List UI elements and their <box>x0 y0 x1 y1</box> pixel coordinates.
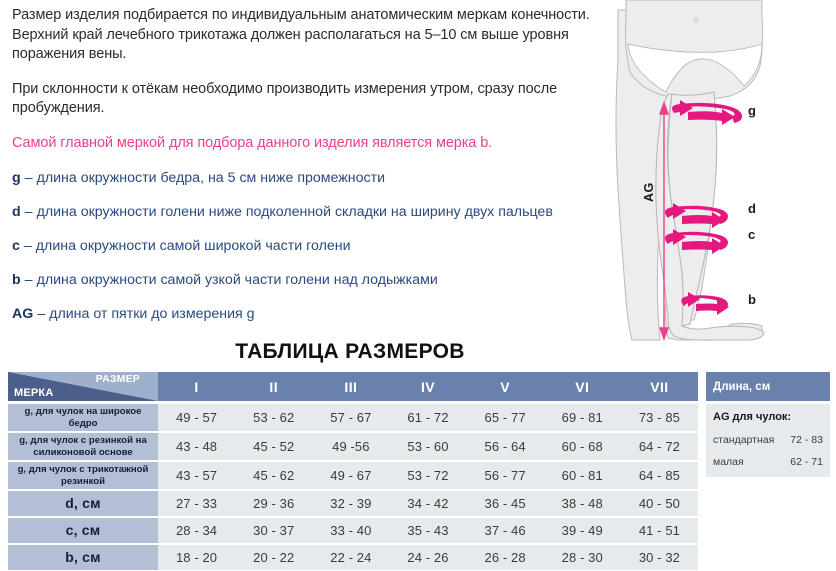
side-panel-body: AG для чулок: стандартная 72 - 83 малая … <box>706 404 830 477</box>
side-row-name: малая <box>713 456 744 468</box>
side-row-value: 72 - 83 <box>790 434 823 446</box>
table-cell: 73 - 85 <box>621 410 698 425</box>
table-cell: 30 - 37 <box>235 523 312 538</box>
table-cell: 43 - 57 <box>158 468 235 483</box>
column-header-7: VII <box>621 379 698 395</box>
diagram-label-ag: AG <box>642 182 656 202</box>
intro-highlight-note: Самой главной меркой для подбора данного… <box>12 134 612 154</box>
column-header-3: III <box>312 379 389 395</box>
side-row-value: 62 - 71 <box>790 456 823 468</box>
table-cell: 32 - 39 <box>312 496 389 511</box>
table-cell: 33 - 40 <box>312 523 389 538</box>
body-silhouette-svg <box>612 0 836 345</box>
table-header-row: РАЗМЕР МЕРКА I II III IV V VI VII <box>8 372 698 401</box>
table-cell: 45 - 52 <box>235 439 312 454</box>
legend-item-ag: AG – длина от пятки до измерения g <box>12 305 612 323</box>
column-header-4: IV <box>389 379 466 395</box>
legend-text-ag: длина от пятки до измерения g <box>49 305 254 323</box>
table-cell: 53 - 62 <box>235 410 312 425</box>
table-cell: 49 - 57 <box>158 410 235 425</box>
table-cell: 56 - 77 <box>467 468 544 483</box>
table-cell: 40 - 50 <box>621 496 698 511</box>
legend-key-c: c <box>12 237 20 255</box>
legend-dash: – <box>24 237 32 255</box>
table-cell: 45 - 62 <box>235 468 312 483</box>
legend-key-g: g <box>12 169 21 187</box>
instructions-text-column: Размер изделия подбирается по индивидуал… <box>12 6 612 339</box>
side-panel-row-standard: стандартная 72 - 83 <box>713 434 823 446</box>
diagram-label-d: d <box>748 201 756 216</box>
legend-dash: – <box>25 271 33 289</box>
table-cell: 57 - 67 <box>312 410 389 425</box>
table-cell: 29 - 36 <box>235 496 312 511</box>
table-cell: 35 - 43 <box>389 523 466 538</box>
row-values: 43 - 57 45 - 62 49 - 67 53 - 72 56 - 77 … <box>158 462 698 489</box>
column-header-6: VI <box>544 379 621 395</box>
row-values: 49 - 57 53 - 62 57 - 67 61 - 72 65 - 77 … <box>158 404 698 431</box>
table-cell: 49 - 67 <box>312 468 389 483</box>
table-row: d, см 27 - 33 29 - 36 32 - 39 34 - 42 36… <box>8 491 698 516</box>
table-cell: 60 - 81 <box>544 468 621 483</box>
row-label: g, для чулок с резинкой на силиконовой о… <box>8 433 158 460</box>
table-cell: 64 - 72 <box>621 439 698 454</box>
table-cell: 61 - 72 <box>389 410 466 425</box>
column-header-5: V <box>467 379 544 395</box>
column-header-2: II <box>235 379 312 395</box>
intro-paragraph-1: Размер изделия подбирается по индивидуал… <box>12 6 612 65</box>
table-row: b, см 18 - 20 20 - 22 22 - 24 24 - 26 26… <box>8 545 698 570</box>
table-cell: 56 - 64 <box>467 439 544 454</box>
row-label: b, см <box>8 545 158 570</box>
table-cell: 26 - 28 <box>467 550 544 565</box>
diagram-label-g: g <box>748 103 756 118</box>
measurement-legend: g – длина окружности бедра, на 5 см ниже… <box>12 169 612 323</box>
table-cell: 30 - 32 <box>621 550 698 565</box>
side-panel-header: Длина, см <box>706 372 830 401</box>
legend-item-g: g – длина окружности бедра, на 5 см ниже… <box>12 169 612 187</box>
table-cell: 27 - 33 <box>158 496 235 511</box>
table-row: g, для чулок на широкое бедро 49 - 57 53… <box>8 404 698 431</box>
table-cell: 39 - 49 <box>544 523 621 538</box>
side-panel-title: AG для чулок: <box>713 411 823 423</box>
row-values: 43 - 48 45 - 52 49 -56 53 - 60 56 - 64 6… <box>158 433 698 460</box>
length-side-panel: Длина, см AG для чулок: стандартная 72 -… <box>706 372 830 477</box>
table-cell: 65 - 77 <box>467 410 544 425</box>
diagram-label-c: c <box>748 227 755 242</box>
table-cell: 28 - 34 <box>158 523 235 538</box>
diagram-label-b: b <box>748 292 756 307</box>
side-row-name: стандартная <box>713 434 774 446</box>
table-cell: 64 - 85 <box>621 468 698 483</box>
table-cell: 37 - 46 <box>467 523 544 538</box>
table-corner-cell: РАЗМЕР МЕРКА <box>8 372 158 401</box>
corner-size-label: РАЗМЕР <box>96 373 140 385</box>
row-values: 27 - 33 29 - 36 32 - 39 34 - 42 36 - 45 … <box>158 491 698 516</box>
table-cell: 36 - 45 <box>467 496 544 511</box>
legend-item-b: b – длина окружности самой узкой части г… <box>12 271 612 289</box>
table-cell: 69 - 81 <box>544 410 621 425</box>
table-cell: 41 - 51 <box>621 523 698 538</box>
table-cell: 60 - 68 <box>544 439 621 454</box>
table-cell: 49 -56 <box>312 439 389 454</box>
table-cell: 34 - 42 <box>389 496 466 511</box>
row-label: g, для чулок с трикотажной резинкой <box>8 462 158 489</box>
legend-dash: – <box>25 169 33 187</box>
corner-measure-label: МЕРКА <box>14 387 54 399</box>
table-cell: 24 - 26 <box>389 550 466 565</box>
table-cell: 20 - 22 <box>235 550 312 565</box>
size-table: РАЗМЕР МЕРКА I II III IV V VI VII g, для… <box>8 372 698 571</box>
legend-text-b: длина окружности самой узкой части голен… <box>37 271 438 289</box>
row-values: 18 - 20 20 - 22 22 - 24 24 - 26 26 - 28 … <box>158 545 698 570</box>
table-cell: 53 - 60 <box>389 439 466 454</box>
row-values: 28 - 34 30 - 37 33 - 40 35 - 43 37 - 46 … <box>158 518 698 543</box>
legend-text-g: длина окружности бедра, на 5 см ниже про… <box>37 169 385 187</box>
table-row: g, для чулок с резинкой на силиконовой о… <box>8 433 698 460</box>
legend-dash: – <box>25 203 33 221</box>
leg-measurement-diagram: g d c b AG <box>612 0 836 345</box>
table-cell: 53 - 72 <box>389 468 466 483</box>
table-cell: 28 - 30 <box>544 550 621 565</box>
legend-dash: – <box>37 305 45 323</box>
table-title: ТАБЛИЦА РАЗМЕРОВ <box>0 340 700 364</box>
legend-text-d: длина окружности голени ниже подколенной… <box>37 203 553 221</box>
table-row: c, см 28 - 34 30 - 37 33 - 40 35 - 43 37… <box>8 518 698 543</box>
legend-item-c: c – длина окружности самой широкой части… <box>12 237 612 255</box>
row-label: g, для чулок на широкое бедро <box>8 404 158 431</box>
size-chart-page: Размер изделия подбирается по индивидуал… <box>0 0 836 571</box>
table-cell: 22 - 24 <box>312 550 389 565</box>
table-cell: 18 - 20 <box>158 550 235 565</box>
legend-key-ag: AG <box>12 305 33 323</box>
row-label: c, см <box>8 518 158 543</box>
legend-key-d: d <box>12 203 21 221</box>
row-label: d, см <box>8 491 158 516</box>
column-header-1: I <box>158 379 235 395</box>
table-column-headers: I II III IV V VI VII <box>158 372 698 401</box>
side-panel-row-small: малая 62 - 71 <box>713 456 823 468</box>
legend-key-b: b <box>12 271 21 289</box>
intro-paragraph-2: При склонности к отёкам необходимо произ… <box>12 80 612 119</box>
legend-text-c: длина окружности самой широкой части гол… <box>36 237 351 255</box>
table-row: g, для чулок с трикотажной резинкой 43 -… <box>8 462 698 489</box>
legend-item-d: d – длина окружности голени ниже подколе… <box>12 203 612 221</box>
table-cell: 38 - 48 <box>544 496 621 511</box>
table-cell: 43 - 48 <box>158 439 235 454</box>
